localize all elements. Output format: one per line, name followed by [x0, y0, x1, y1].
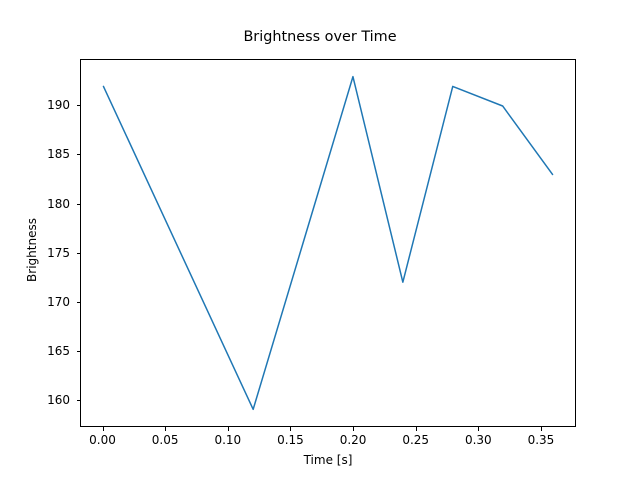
x-tick-label: 0.10 — [214, 433, 241, 447]
y-axis-label: Brightness — [25, 190, 39, 310]
y-tick-mark — [77, 253, 81, 254]
y-tick-mark — [77, 351, 81, 352]
x-tick-label: 0.30 — [465, 433, 492, 447]
chart-title: Brightness over Time — [0, 29, 640, 45]
x-tick-label: 0.15 — [277, 433, 304, 447]
matplotlib-figure: Brightness over Time 1601651701751801851… — [0, 0, 640, 480]
x-tick-label: 0.05 — [152, 433, 179, 447]
data-line-brightness — [103, 77, 552, 410]
y-tick-label: 160 — [20, 393, 70, 407]
x-tick-label: 0.00 — [89, 433, 116, 447]
x-tick-label: 0.35 — [528, 433, 555, 447]
y-tick-mark — [77, 105, 81, 106]
x-tick-mark — [353, 427, 354, 431]
y-tick-mark — [77, 204, 81, 205]
x-tick-mark — [416, 427, 417, 431]
x-axis-label: Time [s] — [80, 453, 576, 467]
y-tick-mark — [77, 400, 81, 401]
x-tick-label: 0.25 — [402, 433, 429, 447]
plot-axes — [80, 59, 576, 427]
y-tick-mark — [77, 302, 81, 303]
x-tick-mark — [165, 427, 166, 431]
y-tick-label: 185 — [20, 147, 70, 161]
x-tick-mark — [228, 427, 229, 431]
x-tick-mark — [478, 427, 479, 431]
y-tick-label: 190 — [20, 98, 70, 112]
x-tick-mark — [541, 427, 542, 431]
x-tick-mark — [290, 427, 291, 431]
x-tick-mark — [103, 427, 104, 431]
x-tick-label: 0.20 — [340, 433, 367, 447]
y-tick-label: 165 — [20, 344, 70, 358]
y-tick-mark — [77, 154, 81, 155]
line-series-svg — [81, 60, 575, 426]
